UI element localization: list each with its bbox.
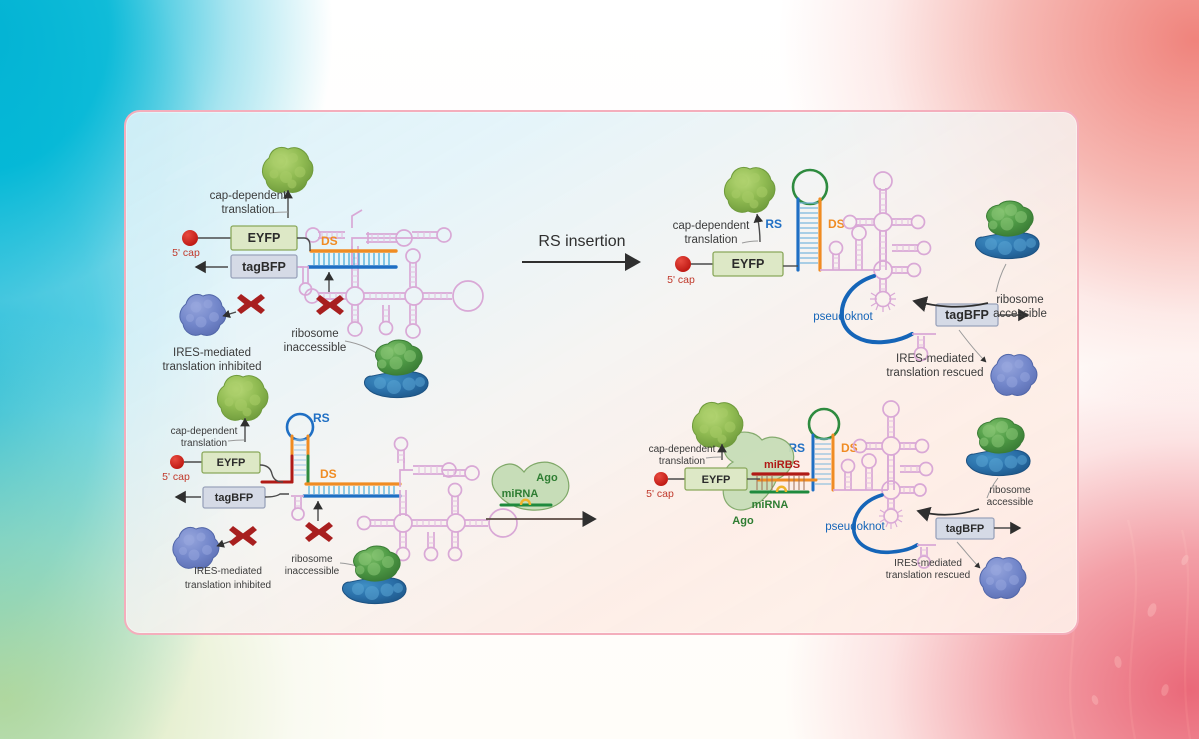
figure-card xyxy=(124,110,1079,635)
figure-canvas: .lbl{font-family:"Liberation Sans",sans-… xyxy=(0,0,1199,739)
